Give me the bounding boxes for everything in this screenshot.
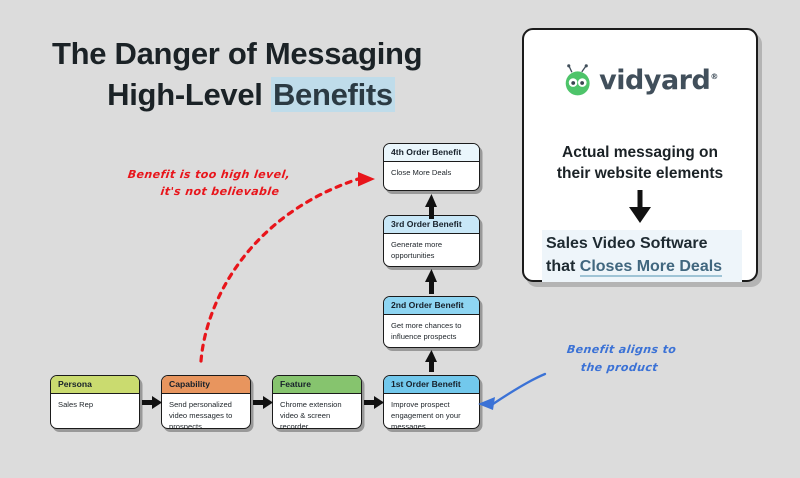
flow-box-body: Sales Rep (51, 394, 139, 414)
arrow-persona-to-capability (142, 396, 162, 409)
flow-box-feature[interactable]: Feature Chrome extension video & screen … (272, 375, 362, 429)
flow-box-body: Generate more opportunities (384, 234, 479, 265)
page-title-line2: High-Level Benefits (52, 74, 472, 115)
flow-box-persona[interactable]: Persona Sales Rep (50, 375, 140, 429)
flow-box-header: 3rd Order Benefit (384, 216, 479, 234)
panel-tagline-highlight: Closes More Deals (580, 258, 722, 277)
flow-box-body: Improve prospect engagement on your mess… (384, 394, 479, 429)
panel-subtitle: Actual messaging on their website elemen… (524, 142, 756, 185)
down-arrow-icon (627, 190, 653, 224)
arrow-feature-to-benefit1 (364, 396, 384, 409)
flow-box-body: Send personalized video messages to pros… (162, 394, 250, 429)
page-title-line1: The Danger of Messaging (52, 33, 472, 74)
flow-box-body: Chrome extension video & screen recorder (273, 394, 361, 429)
diagram-canvas: The Danger of Messaging High-Level Benef… (0, 0, 800, 478)
flow-box-capability[interactable]: Capability Send personalized video messa… (161, 375, 251, 429)
flow-box-benefit-3[interactable]: 3rd Order Benefit Generate more opportun… (383, 215, 480, 267)
flow-box-header: 4th Order Benefit (384, 144, 479, 162)
page-title-line2-plain: High-Level (107, 77, 271, 112)
panel-tagline-line1: Sales Video Software (546, 233, 738, 256)
vidyard-mascot-icon (562, 64, 595, 97)
annotation-red-arrow (201, 172, 375, 361)
panel-subtitle-line1: Actual messaging on (524, 142, 756, 163)
flow-box-body: Close More Deals (384, 162, 479, 182)
arrow-benefit2-to-benefit3 (425, 269, 437, 294)
vidyard-wordmark: vidyard® (599, 67, 718, 94)
annotation-blue-line2: the product (526, 359, 713, 377)
annotation-blue-arrow (478, 374, 545, 410)
registered-mark-icon: ® (710, 72, 718, 81)
panel-tagline-line2: that Closes More Deals (546, 256, 738, 279)
page-title-highlight: Benefits (271, 77, 395, 112)
panel-tagline-plain: that (546, 258, 580, 275)
arrow-capability-to-feature (253, 396, 273, 409)
flow-box-header: 1st Order Benefit (384, 376, 479, 394)
flow-box-benefit-4[interactable]: 4th Order Benefit Close More Deals (383, 143, 480, 191)
flow-box-body: Get more chances to influence prospects (384, 315, 479, 346)
annotation-blue-line1: Benefit aligns to (528, 341, 715, 359)
panel-tagline: Sales Video Software that Closes More De… (542, 230, 742, 282)
annotation-blue-note: Benefit aligns to the product (526, 341, 715, 376)
annotation-red-line1: Benefit is too high level, (127, 168, 291, 181)
panel-subtitle-line2: their website elements (524, 163, 756, 184)
flow-box-benefit-2[interactable]: 2nd Order Benefit Get more chances to in… (383, 296, 480, 348)
flow-box-benefit-1[interactable]: 1st Order Benefit Improve prospect engag… (383, 375, 480, 429)
flow-box-header: Capability (162, 376, 250, 394)
annotation-red-line2: it's not believable (106, 183, 308, 200)
flow-box-header: Feature (273, 376, 361, 394)
vidyard-wordmark-text: vidyard (599, 65, 710, 96)
flow-box-header: Persona (51, 376, 139, 394)
arrow-benefit1-to-benefit2 (425, 350, 437, 372)
panel-down-arrow (524, 190, 756, 224)
flow-box-header: 2nd Order Benefit (384, 297, 479, 315)
page-title: The Danger of Messaging High-Level Benef… (52, 33, 472, 115)
annotation-red-note: Benefit is too high level, it's not beli… (106, 166, 310, 200)
vidyard-messaging-panel: vidyard® Actual messaging on their websi… (522, 28, 758, 282)
vidyard-logo: vidyard® (524, 64, 756, 97)
